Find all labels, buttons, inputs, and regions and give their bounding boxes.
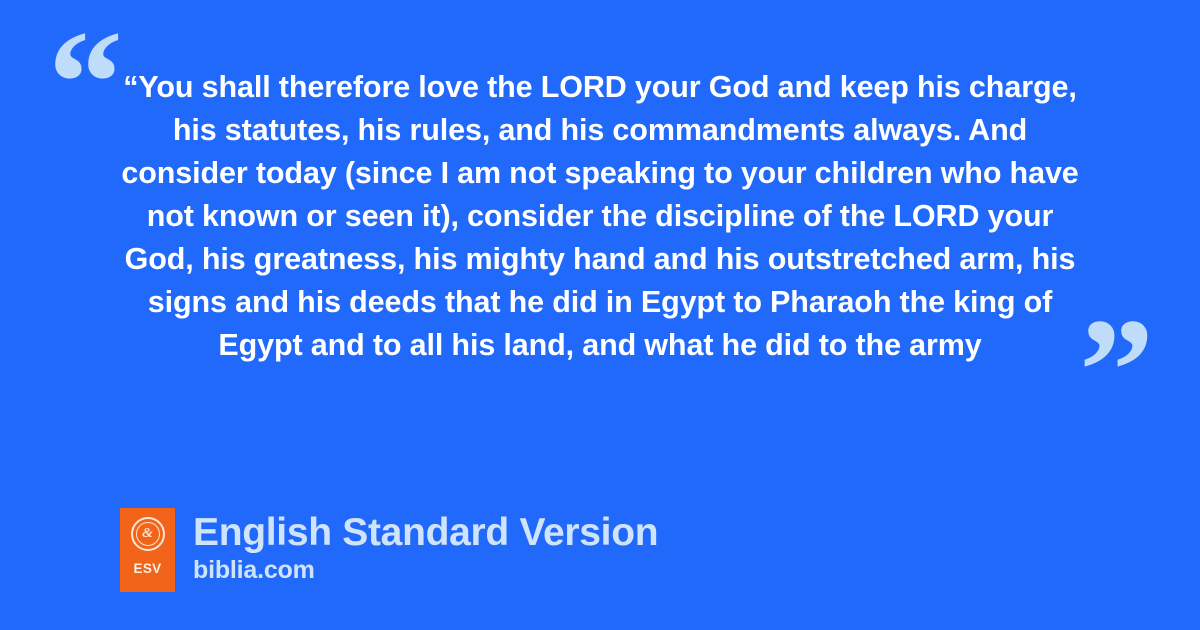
attribution-text-group: English Standard Version biblia.com <box>193 508 658 585</box>
verse-block: “You shall therefore love the LORD your … <box>110 66 1090 367</box>
verse-text: “You shall therefore love the LORD your … <box>110 66 1090 367</box>
close-quote-icon: ” <box>1079 296 1156 446</box>
bible-version-name: English Standard Version <box>193 510 658 556</box>
esv-seal-icon: & <box>131 517 165 551</box>
esv-logo: & ESV <box>120 508 175 592</box>
esv-logo-label: ESV <box>134 562 162 576</box>
attribution-footer: & ESV English Standard Version biblia.co… <box>120 508 658 592</box>
verse-card: “ “You shall therefore love the LORD you… <box>0 0 1200 630</box>
site-name: biblia.com <box>193 555 658 585</box>
esv-seal-monogram: & <box>142 527 153 541</box>
